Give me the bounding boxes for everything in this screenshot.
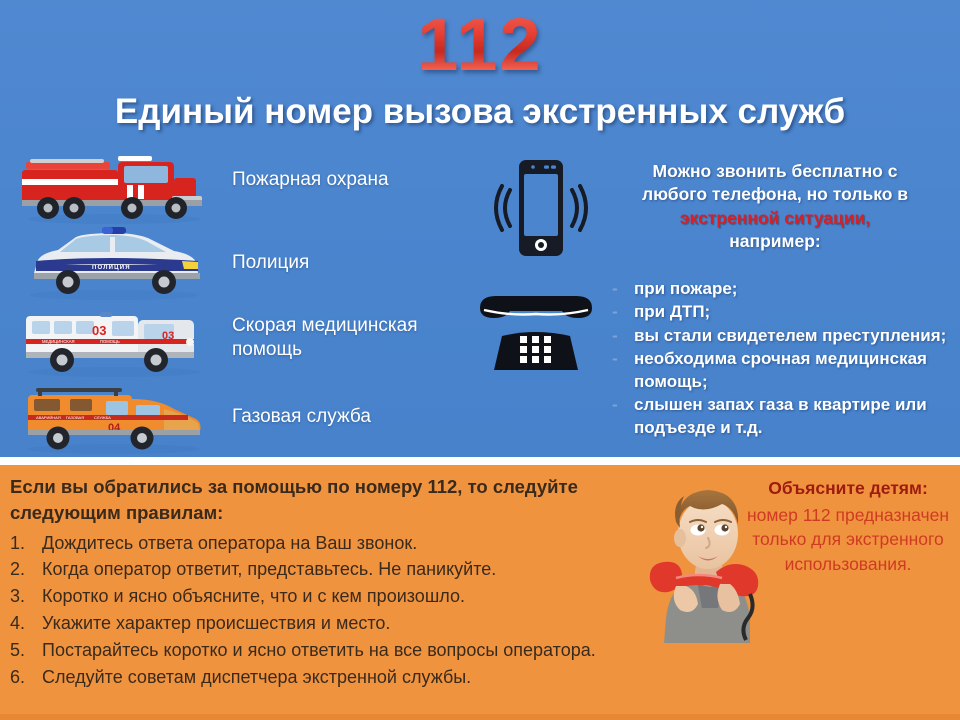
bullet-dash-icon: - [612, 325, 634, 347]
situation-item: - при пожаре; [612, 278, 956, 300]
svg-text:АВАРИЙНАЯ: АВАРИЙНАЯ [36, 415, 61, 420]
emergency-number-112: 112 [0, 2, 960, 87]
svg-text:ГАЗОВАЯ: ГАЗОВАЯ [66, 415, 84, 420]
rules-intro: Если вы обратились за помощью по номеру … [10, 474, 650, 527]
situation-item: - необходима срочная медицинская помощь; [612, 348, 956, 393]
rule-item: 3. Коротко и ясно объясните, что и с кем… [10, 583, 650, 610]
situation-text: вы стали свидетелем преступления; [634, 325, 956, 347]
svg-text:МЕДИЦИНСКАЯ: МЕДИЦИНСКАЯ [42, 339, 75, 344]
bullet-dash-icon: - [612, 278, 634, 300]
call-info-highlight: экстренной ситуации, [680, 208, 870, 228]
situation-item: - при ДТП; [612, 301, 956, 323]
call-info-line1: Можно звонить бесплатно с [653, 161, 898, 181]
situation-item: - вы стали свидетелем преступления; [612, 325, 956, 347]
gas-service-icon: АВАРИЙНАЯ ГАЗОВАЯ СЛУЖБА 04 [14, 379, 214, 456]
police-car-icon: ПОЛИЦИЯ [14, 225, 214, 302]
svg-text:03: 03 [92, 323, 106, 338]
emergency-number-poster: 112 Единый номер вызова экстренных служб [0, 0, 960, 720]
rules-section: Если вы обратились за помощью по номеру … [10, 474, 650, 690]
rule-item: 5. Постарайтесь коротко и ясно ответить … [10, 637, 650, 664]
fire-truck-icon [14, 148, 214, 225]
rule-text: Дождитесь ответа оператора на Ваш звонок… [42, 530, 650, 557]
rule-number: 5. [10, 637, 42, 664]
kids-note-heading: Объясните детям: [742, 476, 954, 501]
service-row-police: ПОЛИЦИЯ Полиция [14, 225, 474, 302]
svg-text:СЛУЖБА: СЛУЖБА [94, 415, 111, 420]
svg-text:ПОМОЩЬ: ПОМОЩЬ [100, 339, 120, 344]
rules-list: 1. Дождитесь ответа оператора на Ваш зво… [10, 530, 650, 691]
svg-text:ПОЛИЦИЯ: ПОЛИЦИЯ [92, 265, 131, 271]
bullet-dash-icon: - [612, 301, 634, 323]
rule-text: Коротко и ясно объясните, что и с кем пр… [42, 583, 650, 610]
call-info-line2: любого телефона, но только в [642, 184, 908, 204]
rule-item: 6. Следуйте советам диспетчера экстренно… [10, 664, 650, 691]
call-info-text: Можно звонить бесплатно с любого телефон… [596, 160, 954, 254]
rule-number: 4. [10, 610, 42, 637]
bullet-dash-icon: - [612, 348, 634, 370]
desk-telephone-icon [466, 292, 606, 375]
service-label-ambulance: Скорая медицинская помощь [232, 314, 442, 362]
situation-text: при ДТП; [634, 301, 956, 323]
rule-text: Постарайтесь коротко и ясно ответить на … [42, 637, 650, 664]
service-label-police: Полиция [232, 251, 309, 275]
kids-note: Объясните детям: номер 112 предназначен … [742, 476, 954, 576]
page-title: Единый номер вызова экстренных служб [0, 92, 960, 132]
services-list: Пожарная охрана ПОЛИЦИЯ [14, 148, 474, 456]
mobile-phone-ringing-icon [486, 156, 592, 269]
call-info-line4: например: [729, 231, 821, 251]
service-label-gas: Газовая служба [232, 405, 371, 429]
rule-number: 3. [10, 583, 42, 610]
rule-text: Когда оператор ответит, представьтесь. Н… [42, 556, 650, 583]
service-row-fire: Пожарная охрана [14, 148, 474, 225]
rule-number: 1. [10, 530, 42, 557]
rule-number: 6. [10, 664, 42, 691]
situation-item: - слышен запах газа в квартире или подъе… [612, 394, 956, 439]
rule-item: 2. Когда оператор ответит, представьтесь… [10, 556, 650, 583]
service-label-fire: Пожарная охрана [232, 168, 389, 192]
service-row-gas: АВАРИЙНАЯ ГАЗОВАЯ СЛУЖБА 04 Газова [14, 379, 474, 456]
situation-text: необходима срочная медицинская помощь; [634, 348, 956, 393]
rule-item: 4. Укажите характер происшествия и место… [10, 610, 650, 637]
kids-note-body: номер 112 предназначен только для экстре… [742, 503, 954, 577]
situation-text: при пожаре; [634, 278, 956, 300]
rule-text: Следуйте советам диспетчера экстренной с… [42, 664, 650, 691]
rule-text: Укажите характер происшествия и место. [42, 610, 650, 637]
ambulance-icon: МЕДИЦИНСКАЯ ПОМОЩЬ 03 03 [14, 302, 214, 379]
svg-text:03: 03 [162, 330, 174, 342]
situation-text: слышен запах газа в квартире или подъезд… [634, 394, 956, 439]
service-row-ambulance: МЕДИЦИНСКАЯ ПОМОЩЬ 03 03 Скорая медицинс… [14, 302, 474, 379]
rule-number: 2. [10, 556, 42, 583]
panel-divider [0, 457, 960, 465]
bullet-dash-icon: - [612, 394, 634, 416]
situations-list: - при пожаре; - при ДТП; - вы стали свид… [612, 278, 956, 440]
rule-item: 1. Дождитесь ответа оператора на Ваш зво… [10, 530, 650, 557]
